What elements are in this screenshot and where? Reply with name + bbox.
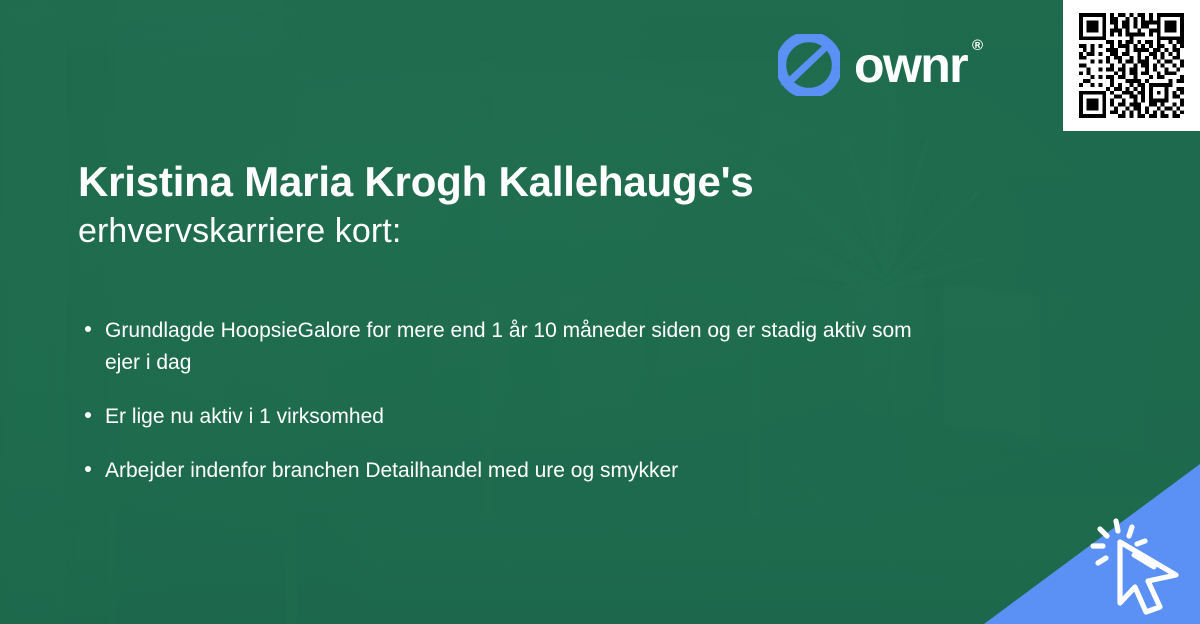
mouse-cursor-click-icon <box>1090 515 1190 615</box>
ownr-circle-swoosh-icon <box>778 34 840 96</box>
career-facts-list: Grundlagde HoopsieGalore for mere end 1 … <box>80 315 940 487</box>
qr-code-icon <box>1075 9 1188 122</box>
qr-code-panel[interactable] <box>1063 0 1200 131</box>
career-summary-card: ownr® <box>0 0 1200 624</box>
list-item: Grundlagde HoopsieGalore for mere end 1 … <box>80 315 940 379</box>
list-item-label: Er lige nu aktiv i 1 virksomhed <box>105 405 384 428</box>
background-office-photo <box>0 0 1200 624</box>
bullet-dot-icon <box>85 466 91 472</box>
page-title: Kristina Maria Krogh Kallehauge's erhver… <box>78 158 754 252</box>
ownr-wordmark-text: ownr <box>854 37 967 93</box>
ownr-wordmark: ownr® <box>854 40 967 90</box>
headline-person-name: Kristina Maria Krogh Kallehauge's <box>78 158 754 205</box>
list-item: Arbejder indenfor branchen Detailhandel … <box>80 455 940 487</box>
list-item-label: Grundlagde HoopsieGalore for mere end 1 … <box>105 319 912 374</box>
list-item: Er lige nu aktiv i 1 virksomhed <box>80 401 940 433</box>
headline-subtitle: erhvervskarriere kort: <box>78 211 754 252</box>
bullet-dot-icon <box>85 412 91 418</box>
registered-trademark-icon: ® <box>972 38 983 53</box>
ownr-logo[interactable]: ownr® <box>778 34 967 96</box>
bullet-dot-icon <box>85 326 91 332</box>
list-item-label: Arbejder indenfor branchen Detailhandel … <box>105 459 678 482</box>
